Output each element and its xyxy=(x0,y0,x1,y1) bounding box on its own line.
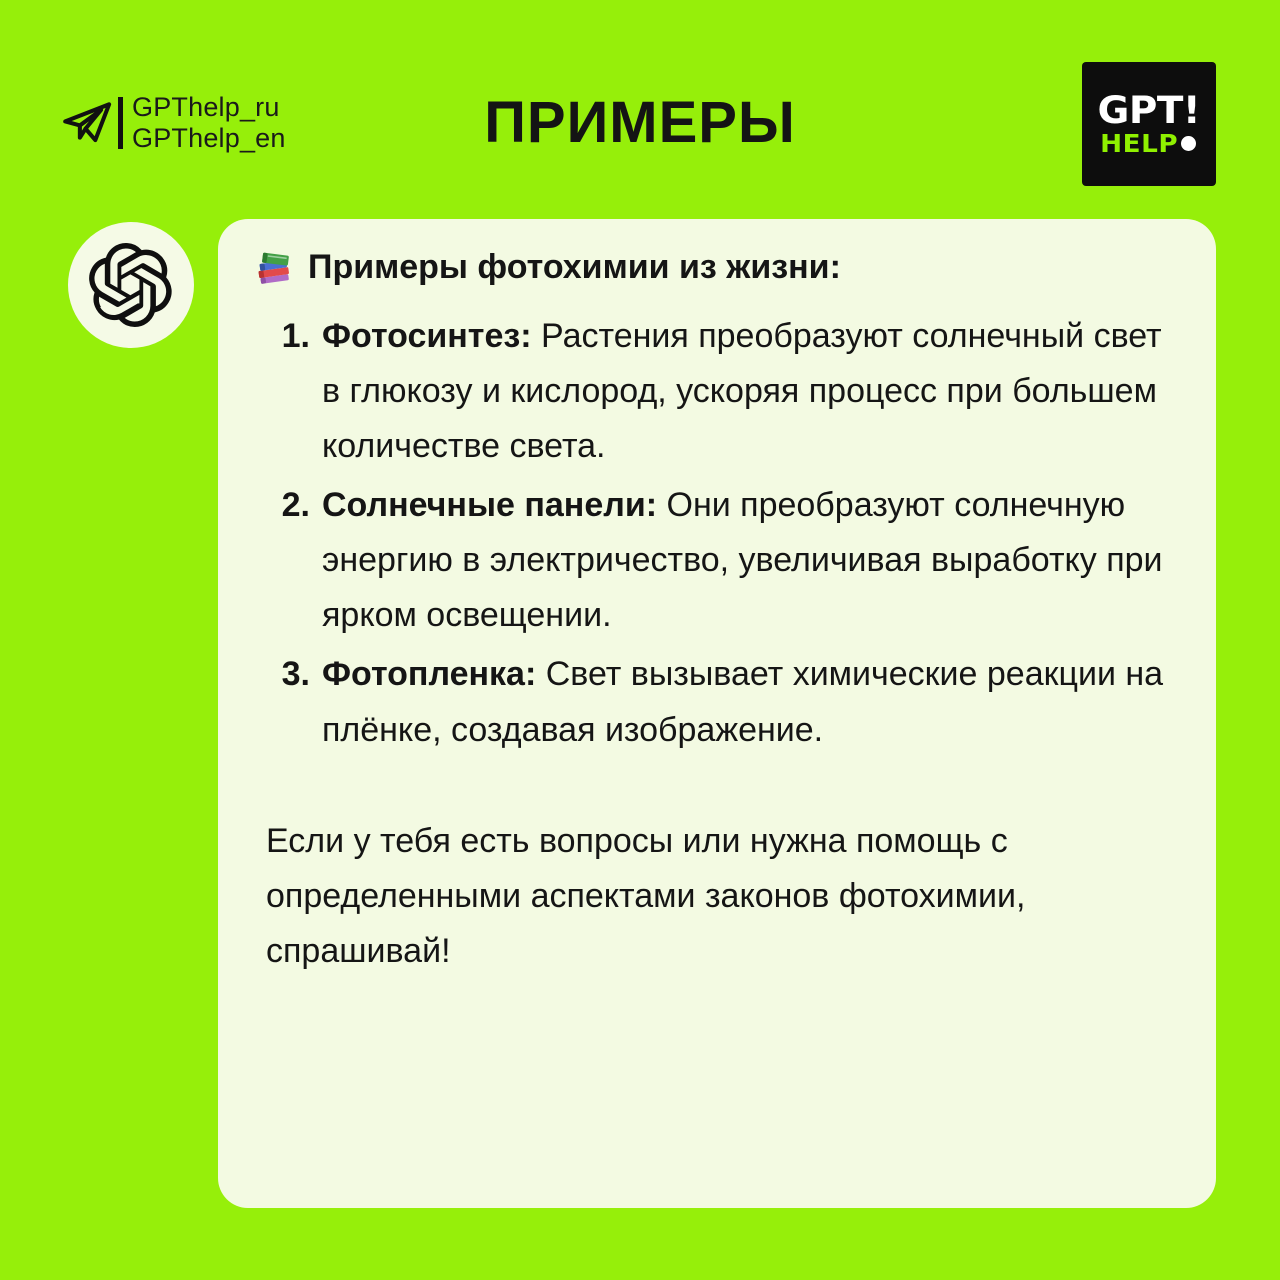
list-item-term: Солнечные панели: xyxy=(322,486,657,524)
openai-logo-icon xyxy=(89,243,173,327)
header: GPThelp_ru GPThelp_en ПРИМЕРЫ GPT! HELP xyxy=(0,0,1280,215)
list-item-marker: 2. xyxy=(266,478,310,533)
books-icon xyxy=(254,247,294,287)
avatar xyxy=(68,222,194,348)
slide-canvas: GPThelp_ru GPThelp_en ПРИМЕРЫ GPT! HELP xyxy=(0,0,1280,1280)
logo-gpt-text: GPT! xyxy=(1098,92,1200,129)
list-item-term: Фотопленка: xyxy=(322,655,536,693)
list-item: 2. Солнечные панели: Они преобразуют сол… xyxy=(252,478,1182,643)
message-card: Примеры фотохимии из жизни: 1. Фотосинте… xyxy=(218,219,1216,1208)
card-heading: Примеры фотохимии из жизни: xyxy=(254,247,1182,287)
logo-dot-icon xyxy=(1181,136,1196,151)
list-item: 1. Фотосинтез: Растения преобразуют солн… xyxy=(252,309,1182,474)
list-item-marker: 1. xyxy=(266,309,310,364)
logo-help-row: HELP xyxy=(1102,131,1196,156)
examples-list: 1. Фотосинтез: Растения преобразуют солн… xyxy=(252,309,1182,758)
closing-paragraph: Если у тебя есть вопросы или нужна помощ… xyxy=(266,814,1096,979)
list-item: 3. Фотопленка: Свет вызывает химические … xyxy=(252,647,1182,757)
card-heading-text: Примеры фотохимии из жизни: xyxy=(308,248,841,287)
list-item-marker: 3. xyxy=(266,647,310,702)
gpthelp-logo[interactable]: GPT! HELP xyxy=(1082,62,1216,186)
logo-help-text: HELP xyxy=(1100,131,1178,156)
list-item-term: Фотосинтез: xyxy=(322,317,532,355)
